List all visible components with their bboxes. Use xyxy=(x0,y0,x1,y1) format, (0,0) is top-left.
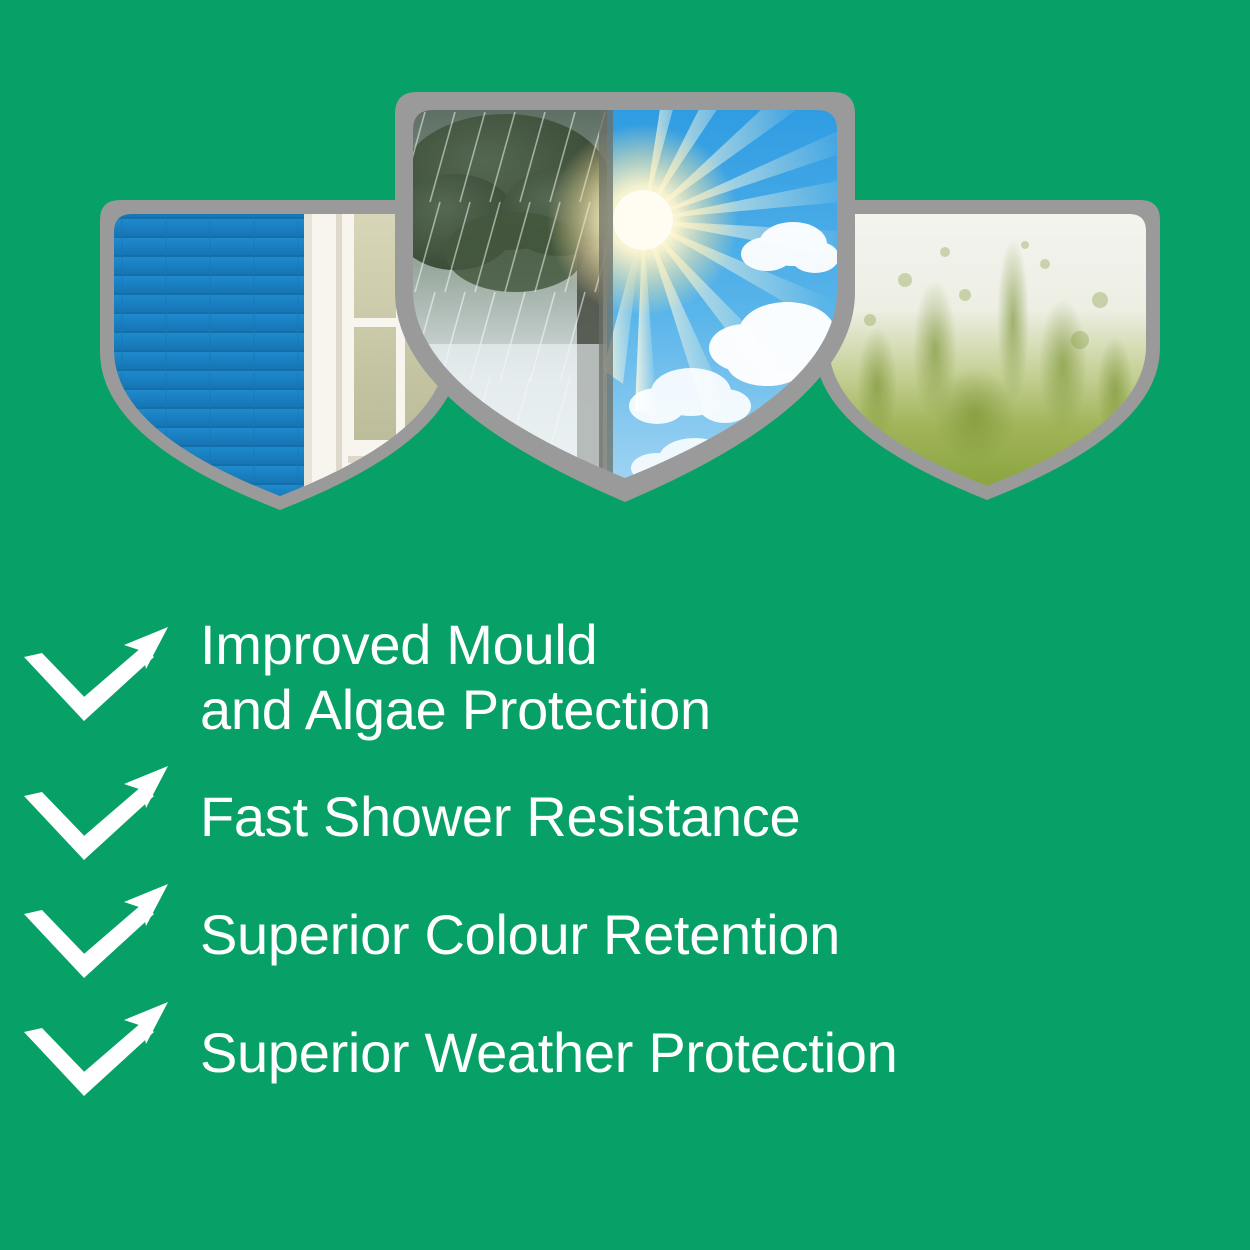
feature-item: Superior Weather Protection xyxy=(0,994,1250,1112)
product-benefits-poster: Improved Mould and Algae Protection Fast… xyxy=(0,0,1250,1250)
shield-artwork xyxy=(829,214,1146,486)
feature-label: Superior Colour Retention xyxy=(200,903,840,968)
check-arrow-icon xyxy=(0,623,200,733)
shield-group xyxy=(0,0,1250,540)
feature-item: Superior Colour Retention xyxy=(0,876,1250,994)
rain-and-sun-shield xyxy=(395,92,855,502)
algae-wall-shield xyxy=(815,200,1160,500)
feature-label: Improved Mould and Algae Protection xyxy=(200,613,711,743)
feature-label: Fast Shower Resistance xyxy=(200,785,800,850)
check-arrow-icon xyxy=(0,998,200,1108)
feature-label: Superior Weather Protection xyxy=(200,1021,897,1086)
check-arrow-icon xyxy=(0,762,200,872)
feature-item: Improved Mould and Algae Protection xyxy=(0,598,1250,758)
feature-item: Fast Shower Resistance xyxy=(0,758,1250,876)
check-arrow-icon xyxy=(0,880,200,990)
feature-list: Improved Mould and Algae Protection Fast… xyxy=(0,598,1250,1112)
